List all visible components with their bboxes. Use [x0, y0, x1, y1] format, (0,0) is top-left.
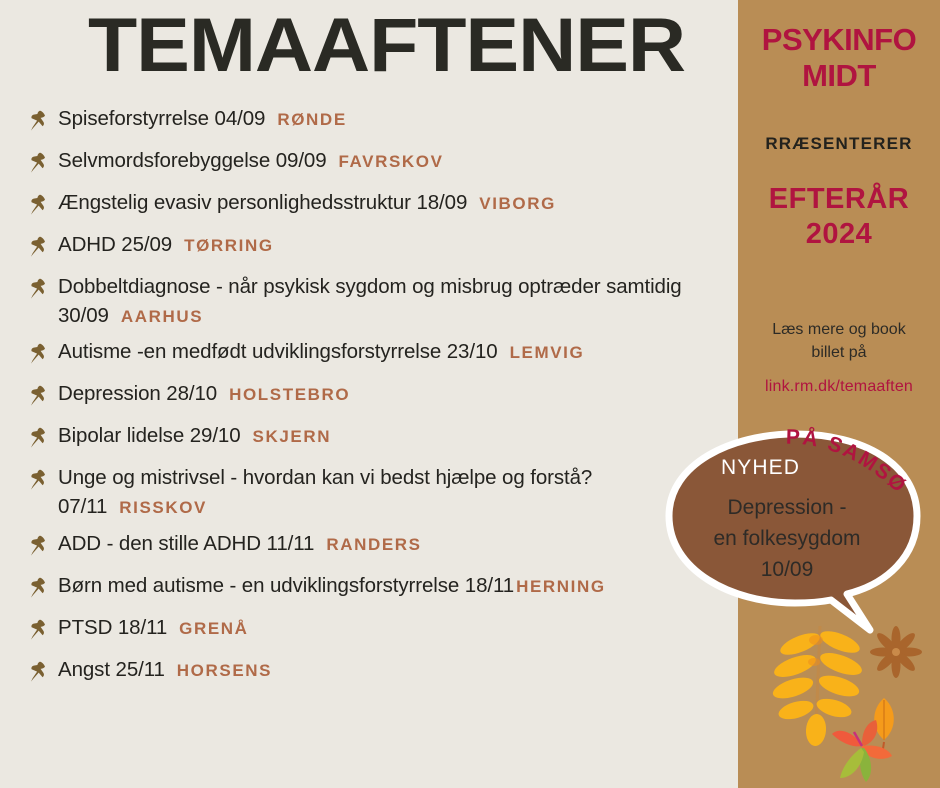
pushpin-icon — [24, 108, 50, 134]
season-block: EFTERÅR 2024 — [738, 182, 940, 252]
season-line-1: EFTERÅR — [738, 182, 940, 217]
bubble-text: Depression - en folkesygdom 10/09 — [673, 492, 901, 585]
season-line-2: 2024 — [738, 217, 940, 252]
pushpin-icon — [24, 467, 50, 493]
event-title: Selvmordsforebyggelse 09/09 — [58, 149, 327, 172]
event-city: FAVRSKOV — [339, 152, 444, 171]
event-list: Spiseforstyrrelse 04/09RØNDESelvmordsfor… — [24, 105, 740, 698]
event-row[interactable]: ADHD 25/09TØRRING — [24, 231, 740, 265]
booking-info-line-2: billet på — [738, 341, 940, 364]
event-title: Autisme -en medfødt udviklingsforstyrrel… — [58, 340, 498, 363]
pushpin-icon — [24, 425, 50, 451]
news-speech-bubble: NYHED Depression - en folkesygdom 10/09 … — [655, 424, 940, 639]
event-row[interactable]: Unge og mistrivsel - hvordan kan vi beds… — [24, 464, 740, 521]
event-text: ADD - den stille ADHD 11/11RANDERS — [58, 530, 740, 559]
pushpin-icon — [24, 575, 50, 601]
event-row[interactable]: Autisme -en medfødt udviklingsforstyrrel… — [24, 338, 740, 372]
event-text: Angst 25/11HORSENS — [58, 656, 740, 685]
event-row[interactable]: Bipolar lidelse 29/10SKJERN — [24, 422, 740, 456]
booking-link[interactable]: link.rm.dk/temaaften — [738, 378, 940, 396]
event-text: Dobbeltdiagnose - når psykisk sygdom og … — [58, 273, 740, 330]
pushpin-icon — [24, 341, 50, 367]
event-row[interactable]: Depression 28/10HOLSTEBRO — [24, 380, 740, 414]
event-city: RØNDE — [277, 110, 346, 129]
sidebar-panel: PSYKINFO MIDT RRÆSENTERER EFTERÅR 2024 L… — [738, 0, 940, 788]
event-row[interactable]: Spiseforstyrrelse 04/09RØNDE — [24, 105, 740, 139]
pushpin-icon — [24, 659, 50, 685]
bubble-line-3: 10/09 — [673, 554, 901, 585]
booking-info: Læs mere og book billet på — [738, 318, 940, 364]
event-row[interactable]: Børn med autisme - en udviklingsforstyrr… — [24, 572, 740, 606]
pushpin-icon — [24, 234, 50, 260]
event-title: Ængstelig evasiv personlighedsstruktur 1… — [58, 191, 467, 214]
event-text: Børn med autisme - en udviklingsforstyrr… — [58, 572, 740, 601]
bubble-line-2: en folkesygdom — [673, 523, 901, 554]
pushpin-icon — [24, 276, 50, 302]
event-row[interactable]: Angst 25/11HORSENS — [24, 656, 740, 690]
booking-info-line-1: Læs mere og book — [738, 318, 940, 341]
presents-label: RRÆSENTERER — [738, 134, 940, 154]
event-city: VIBORG — [479, 194, 556, 213]
event-city: GRENÅ — [179, 619, 248, 638]
event-city: HERNING — [516, 577, 606, 596]
event-text: Unge og mistrivsel - hvordan kan vi beds… — [58, 464, 740, 521]
event-row[interactable]: ADD - den stille ADHD 11/11RANDERS — [24, 530, 740, 564]
event-title: Angst 25/11 — [58, 658, 165, 681]
event-title: ADD - den stille ADHD 11/11 — [58, 532, 314, 555]
event-row[interactable]: Ængstelig evasiv personlighedsstruktur 1… — [24, 189, 740, 223]
event-title: Spiseforstyrrelse 04/09 — [58, 107, 265, 130]
brand-line-1: PSYKINFO — [738, 22, 940, 58]
event-city: TØRRING — [184, 236, 274, 255]
pushpin-icon — [24, 383, 50, 409]
event-text: Ængstelig evasiv personlighedsstruktur 1… — [58, 189, 740, 218]
event-text: Spiseforstyrrelse 04/09RØNDE — [58, 105, 740, 134]
event-text: Bipolar lidelse 29/10SKJERN — [58, 422, 740, 451]
event-title: Børn med autisme - en udviklingsforstyrr… — [58, 574, 514, 597]
pushpin-icon — [24, 617, 50, 643]
event-city: RANDERS — [326, 535, 421, 554]
event-title: ADHD 25/09 — [58, 233, 172, 256]
event-row[interactable]: Dobbeltdiagnose - når psykisk sygdom og … — [24, 273, 740, 330]
event-text: Selvmordsforebyggelse 09/09FAVRSKOV — [58, 147, 740, 176]
event-city: HORSENS — [177, 661, 272, 680]
event-city: HOLSTEBRO — [229, 385, 350, 404]
event-text: Autisme -en medfødt udviklingsforstyrrel… — [58, 338, 740, 367]
event-text: Depression 28/10HOLSTEBRO — [58, 380, 740, 409]
event-row[interactable]: Selvmordsforebyggelse 09/09FAVRSKOV — [24, 147, 740, 181]
poster-canvas: PSYKINFO MIDT RRÆSENTERER EFTERÅR 2024 L… — [0, 0, 940, 788]
event-title: Depression 28/10 — [58, 382, 217, 405]
event-row[interactable]: PTSD 18/11GRENÅ — [24, 614, 740, 648]
pushpin-icon — [24, 533, 50, 559]
news-badge: NYHED — [721, 456, 800, 480]
brand-line-2: MIDT — [738, 58, 940, 94]
event-text: PTSD 18/11GRENÅ — [58, 614, 740, 643]
page-title: TEMAAFTENER — [88, 8, 724, 84]
brand-block: PSYKINFO MIDT — [738, 22, 940, 94]
event-city: LEMVIG — [510, 343, 585, 362]
event-city: SKJERN — [253, 427, 332, 446]
event-title: PTSD 18/11 — [58, 616, 167, 639]
event-city: AARHUS — [121, 307, 203, 326]
event-city: RISSKOV — [119, 498, 207, 517]
event-text: ADHD 25/09TØRRING — [58, 231, 740, 260]
event-title: Bipolar lidelse 29/10 — [58, 424, 241, 447]
pushpin-icon — [24, 150, 50, 176]
bubble-line-1: Depression - — [673, 492, 901, 523]
pushpin-icon — [24, 192, 50, 218]
